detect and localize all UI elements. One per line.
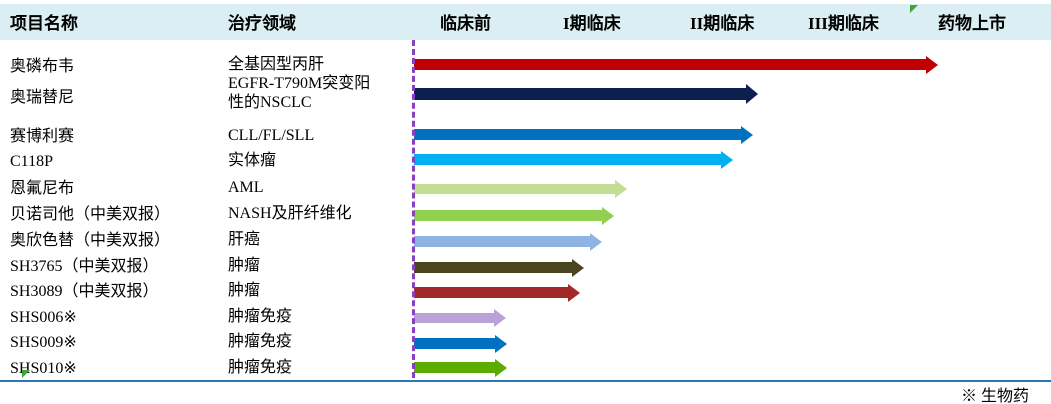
project-name: 奥欣色替（中美双报）	[10, 232, 170, 250]
pipeline-progress-arrow	[414, 362, 507, 373]
therapy-area-line: 性的NSCLC	[228, 93, 413, 112]
pipeline-progress-arrow	[414, 184, 627, 194]
project-name: SHS006※	[10, 309, 77, 327]
pipeline-progress-arrow	[414, 236, 602, 247]
arrow-head-icon	[926, 56, 938, 74]
arrow-head-icon	[615, 180, 627, 198]
header-column-4: II期临床	[690, 9, 754, 34]
therapy-area: AML	[228, 178, 264, 197]
project-name: SH3089（中美双报）	[10, 283, 158, 301]
arrow-head-icon	[568, 284, 580, 302]
pipeline-progress-arrow	[414, 262, 584, 273]
project-name: SH3765（中美双报）	[10, 258, 158, 276]
arrow-head-icon	[746, 84, 758, 104]
arrow-head-icon	[721, 151, 733, 169]
header-column-5: III期临床	[808, 9, 879, 34]
arrow-shaft	[414, 184, 615, 194]
therapy-area: CLL/FL/SLL	[228, 126, 314, 145]
footnote-biologic-drug: ※ 生物药	[961, 382, 1029, 404]
arrow-shaft	[414, 210, 602, 221]
therapy-area-line: EGFR-T790M突变阳	[228, 74, 413, 93]
project-name: 恩氟尼布	[10, 180, 74, 198]
arrow-head-icon	[602, 207, 614, 225]
pipeline-progress-arrow	[414, 313, 506, 323]
therapy-area: 肝癌	[228, 230, 260, 249]
green-triangle-marker-bottom	[22, 370, 30, 378]
arrow-shaft	[414, 88, 746, 100]
pipeline-progress-arrow	[414, 210, 614, 221]
arrow-shaft	[414, 236, 590, 247]
footer-divider	[0, 380, 1051, 382]
arrow-shaft	[414, 262, 572, 273]
arrow-head-icon	[494, 309, 506, 327]
green-triangle-marker-top	[910, 5, 918, 13]
therapy-area: 肿瘤	[228, 281, 260, 300]
preclinical-baseline-divider	[412, 40, 415, 378]
project-name: C118P	[10, 153, 53, 171]
arrow-shaft	[414, 338, 495, 349]
header-column-2: 临床前	[440, 9, 491, 34]
arrow-head-icon	[495, 335, 507, 353]
therapy-area: NASH及肝纤维化	[228, 204, 352, 223]
project-name: SHS009※	[10, 334, 77, 352]
therapy-area: 全基因型丙肝	[228, 55, 324, 74]
project-name: 贝诺司他（中美双报）	[10, 206, 170, 224]
header-band	[0, 4, 1051, 40]
therapy-area: EGFR-T790M突变阳性的NSCLC	[228, 74, 413, 112]
pipeline-progress-arrow	[414, 129, 753, 140]
arrow-head-icon	[590, 233, 602, 251]
therapy-area: 肿瘤免疫	[228, 358, 292, 377]
header-column-0: 项目名称	[10, 9, 78, 34]
arrow-head-icon	[741, 126, 753, 144]
pipeline-progress-arrow	[414, 59, 938, 70]
therapy-area: 肿瘤免疫	[228, 307, 292, 326]
arrow-shaft	[414, 313, 494, 323]
project-name: 奥瑞替尼	[10, 89, 74, 107]
arrow-shaft	[414, 59, 926, 70]
header-column-3: I期临床	[563, 9, 621, 34]
pipeline-progress-arrow	[414, 338, 507, 349]
arrow-head-icon	[572, 259, 584, 277]
pipeline-progress-arrow	[414, 88, 758, 100]
project-name: 奥磷布韦	[10, 58, 74, 76]
arrow-shaft	[414, 287, 568, 298]
header-column-1: 治疗领域	[228, 9, 296, 34]
therapy-area: 肿瘤免疫	[228, 332, 292, 351]
pipeline-chart-page: 项目名称治疗领域临床前I期临床II期临床III期临床药物上市 奥磷布韦全基因型丙…	[0, 0, 1051, 404]
header-column-6: 药物上市	[938, 9, 1006, 34]
arrow-shaft	[414, 129, 741, 140]
therapy-area: 实体瘤	[228, 151, 276, 170]
arrow-shaft	[414, 362, 495, 373]
project-name: 赛博利赛	[10, 128, 74, 146]
pipeline-progress-arrow	[414, 287, 580, 298]
pipeline-progress-arrow	[414, 154, 733, 165]
project-name: SHS010※	[10, 360, 77, 378]
arrow-head-icon	[495, 359, 507, 377]
arrow-shaft	[414, 154, 721, 165]
therapy-area: 肿瘤	[228, 256, 260, 275]
